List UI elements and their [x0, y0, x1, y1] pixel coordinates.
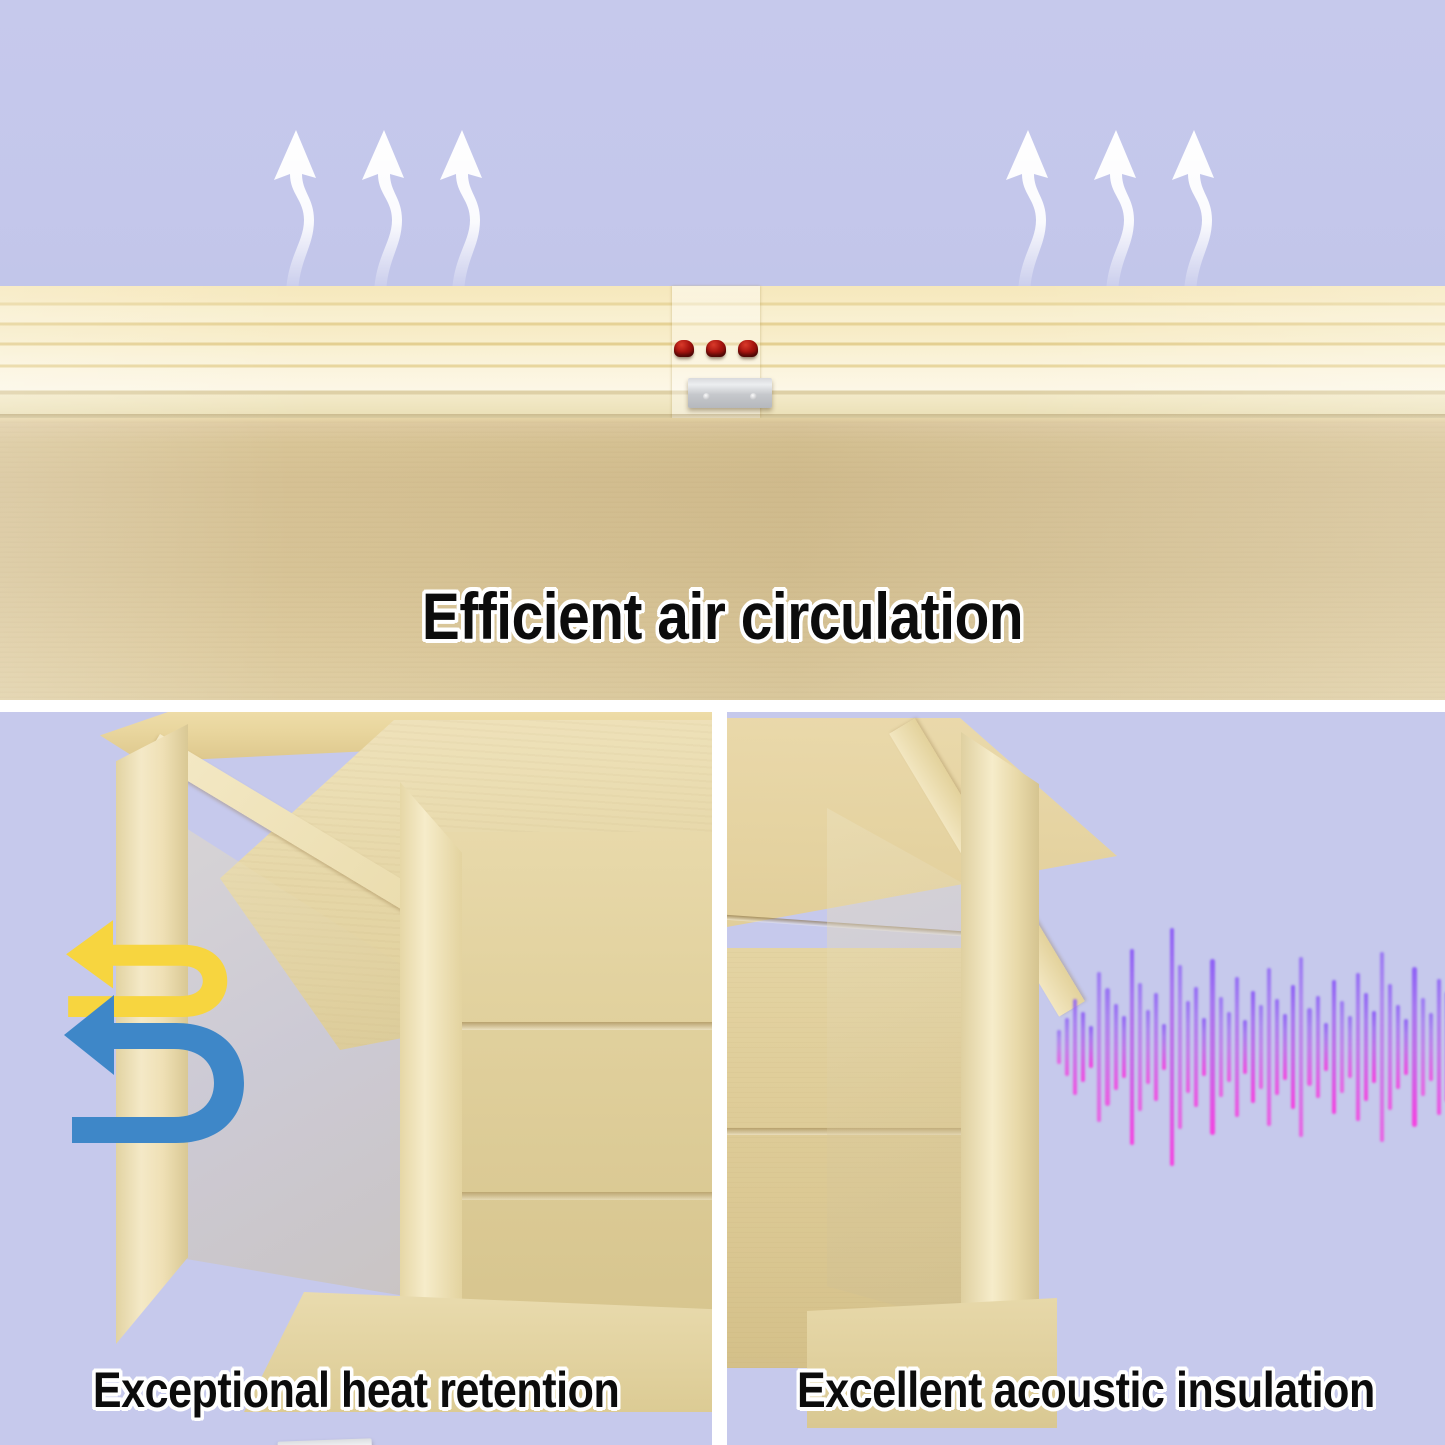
heat-arrow-blue [64, 995, 244, 1143]
sound-wave-bar [1275, 999, 1279, 1095]
screw-icon [703, 393, 710, 400]
sound-wave-bar [1210, 959, 1214, 1135]
panel-divider-vertical [712, 700, 727, 1445]
cabinet-interior [440, 832, 712, 1352]
panel-exceptional-heat-retention: Exceptional heat retention [0, 712, 712, 1445]
air-rising-arrow [362, 130, 404, 298]
cabinet-shelf [440, 1192, 712, 1200]
sound-wave-bar [1267, 968, 1271, 1126]
cabinet-shelf [440, 1022, 712, 1030]
led-indicator-3 [738, 340, 758, 357]
sound-wave-icon [1057, 882, 1445, 1212]
sound-wave-bar [1291, 985, 1295, 1109]
sound-wave-bar [1162, 1024, 1166, 1070]
sound-wave-bar [1324, 1023, 1328, 1071]
sound-wave-bar [1130, 949, 1134, 1145]
indicator-light-row [672, 338, 760, 362]
caption-top-text: Efficient air circulation [422, 578, 1023, 654]
sound-wave-bar [1138, 983, 1142, 1111]
sound-wave-bar [1227, 1012, 1231, 1082]
sound-wave-bar [1122, 1016, 1126, 1078]
sound-wave-bar [1251, 991, 1255, 1103]
led-indicator-2 [706, 340, 726, 357]
cabinet-front-face [0, 418, 1445, 700]
sound-wave-bar [1283, 1014, 1287, 1080]
sound-wave-bar [1235, 977, 1239, 1117]
caption-bottom-right-text: Excellent acoustic insulation [797, 1361, 1375, 1419]
sound-wave-bar [1178, 965, 1182, 1129]
sound-wave-bar [1097, 972, 1101, 1122]
air-rising-arrow [1006, 130, 1048, 298]
sound-wave-bar [1332, 980, 1336, 1114]
sound-wave-bar [1404, 1019, 1408, 1075]
caption-bottom-left-text: Exceptional heat retention [93, 1361, 619, 1419]
sound-wave-bar [1388, 984, 1392, 1110]
caption-top: Efficient air circulation [0, 578, 1445, 654]
air-rising-arrow [1172, 130, 1214, 298]
sound-wave-bar [1219, 997, 1223, 1097]
sound-wave-bar [1170, 928, 1174, 1166]
sound-wave-bar [1114, 1004, 1118, 1090]
glass-side-panel [827, 808, 977, 1328]
screw-icon [750, 393, 757, 400]
sound-wave-bar [1259, 1005, 1263, 1089]
cabinet-corner-post [961, 732, 1039, 1382]
sound-wave-bar [1299, 957, 1303, 1137]
sound-wave-bar [1105, 988, 1109, 1106]
sound-wave-bar [1073, 999, 1077, 1095]
led-indicator-1 [674, 340, 694, 357]
background-sky [0, 0, 1445, 292]
caption-bottom-left: Exceptional heat retention [0, 1361, 712, 1419]
sound-wave-bar [1154, 993, 1158, 1101]
caption-bottom-right: Excellent acoustic insulation [727, 1361, 1445, 1419]
sound-wave-bar [1437, 979, 1441, 1115]
sound-wave-bar [1429, 1013, 1433, 1081]
sound-wave-bar [1340, 1001, 1344, 1093]
sound-wave-bar [1089, 1026, 1093, 1068]
air-rising-arrow [1094, 130, 1136, 298]
panel-efficient-air-circulation: Efficient air circulation [0, 0, 1445, 700]
sound-wave-bar [1186, 1001, 1190, 1093]
sound-wave-bar [1065, 1018, 1069, 1076]
panel-excellent-acoustic-insulation: Excellent acoustic insulation [727, 712, 1445, 1445]
sound-wave-bar [1421, 998, 1425, 1096]
sound-wave-bar [1412, 967, 1416, 1127]
air-rising-arrow [274, 130, 316, 298]
sound-wave-bar [1380, 952, 1384, 1142]
sound-wave-bar [1194, 987, 1198, 1107]
heat-arrow-yellow [66, 920, 227, 1017]
sound-wave-bar [1396, 1005, 1400, 1089]
sound-wave-bar [1243, 1020, 1247, 1074]
sound-wave-bar [1202, 1018, 1206, 1076]
air-rising-arrow [440, 130, 482, 298]
sound-wave-bar [1316, 996, 1320, 1098]
sound-wave-bar [1307, 1008, 1311, 1086]
heat-reflection-arrows-icon [58, 917, 288, 1162]
sound-wave-bar [1364, 993, 1368, 1101]
sound-wave-bar [1348, 1016, 1352, 1078]
airflow-arrow-group-left [256, 108, 486, 298]
sound-wave-bar [1146, 1010, 1150, 1084]
sound-wave-bar [1372, 1011, 1376, 1083]
sound-wave-bar [1057, 1030, 1061, 1064]
airflow-arrow-group-right [988, 108, 1218, 298]
product-feature-collage: Efficient air circulation [0, 0, 1445, 1445]
sound-wave-bar [1081, 1012, 1085, 1082]
metal-hinge-bracket [688, 378, 772, 408]
sound-wave-bar [1356, 973, 1360, 1121]
cabinet-corner-post [400, 782, 462, 1372]
